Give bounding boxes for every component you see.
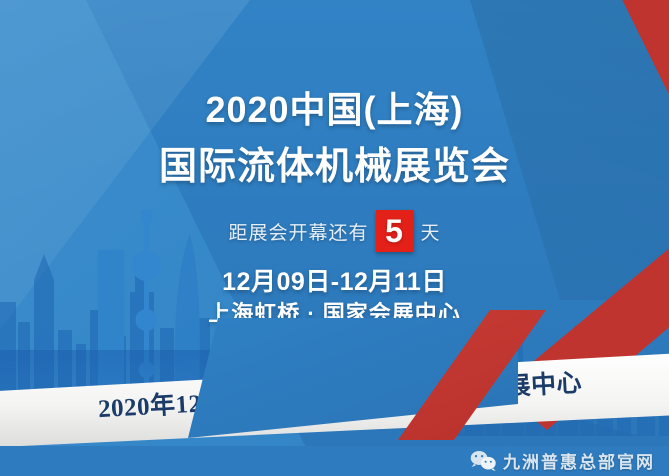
watermark: 九洲普惠总部官网 — [469, 448, 655, 473]
page-title-line-1: 2020中国(上海) — [0, 92, 669, 128]
exhibition-poster: 2020中国(上海) 国际流体机械展览会 距展会开幕还有 5 天 12月09日-… — [0, 0, 669, 476]
countdown-days-badge: 5 — [376, 210, 414, 252]
watermark-label: 九洲普惠总部官网 — [503, 448, 655, 473]
page-title-line-2: 国际流体机械展览会 — [0, 148, 669, 186]
wechat-icon — [469, 449, 497, 473]
countdown-suffix: 天 — [421, 218, 441, 245]
countdown-prefix: 距展会开幕还有 — [228, 218, 368, 245]
event-date: 12月09日-12月11日 — [0, 262, 669, 298]
countdown-row: 距展会开幕还有 5 天 — [0, 210, 669, 252]
